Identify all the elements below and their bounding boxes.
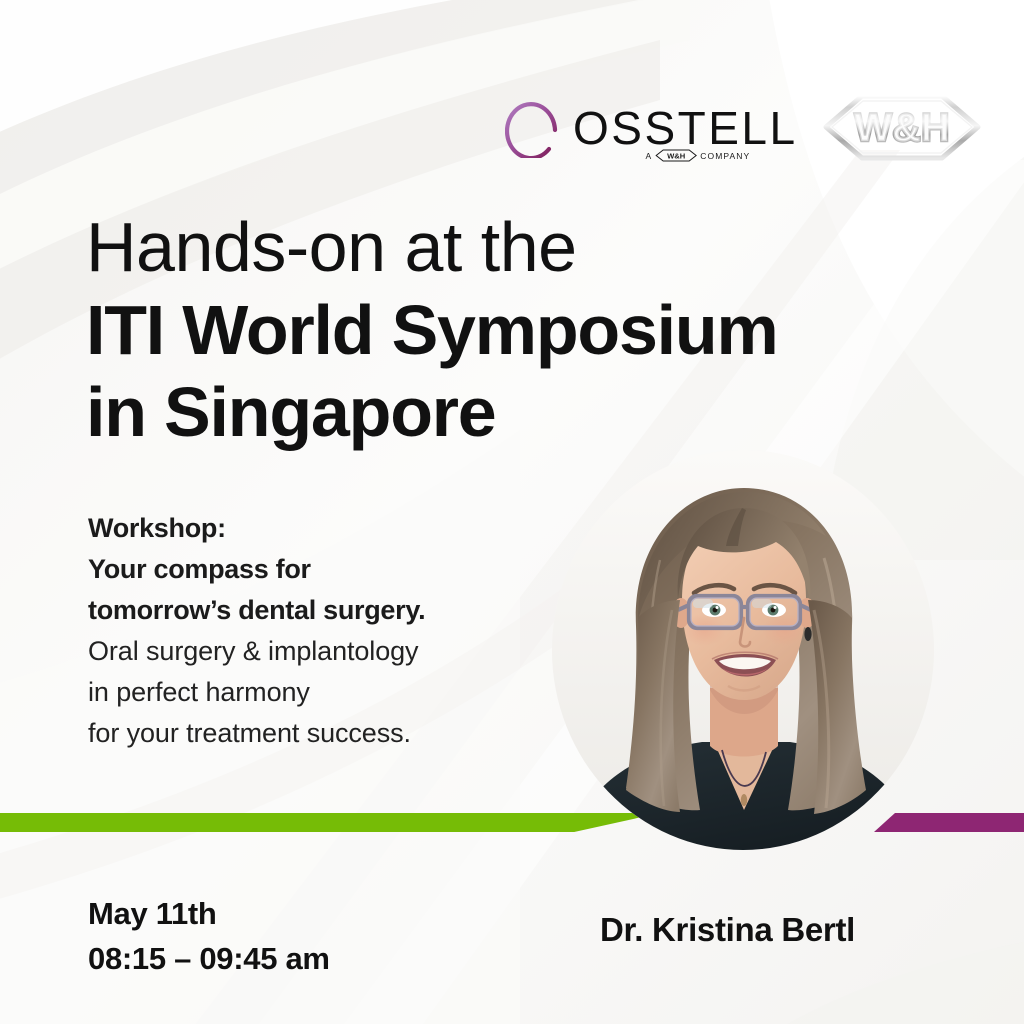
tagline-prefix: A: [645, 151, 652, 161]
workshop-desc-3: for your treatment success.: [88, 713, 518, 754]
tagline-suffix: COMPANY: [700, 151, 750, 161]
event-promo-poster: OSSTELL A W&H COMPANY: [0, 0, 1024, 1024]
event-datetime: May 11th 08:15 – 09:45 am: [88, 892, 330, 982]
osstell-wordmark: OSSTELL: [573, 105, 798, 151]
event-time: 08:15 – 09:45 am: [88, 937, 330, 982]
divider-bar-green: [0, 813, 660, 832]
logo-bar: OSSTELL A W&H COMPANY: [505, 88, 982, 166]
event-date: May 11th: [88, 892, 330, 937]
svg-text:W&H: W&H: [854, 106, 950, 150]
headline-line-3: in Singapore: [86, 371, 886, 454]
divider-bar-magenta: [874, 813, 1024, 832]
workshop-desc-2: in perfect harmony: [88, 672, 518, 713]
wh-hexagon-logo-icon: W&H W&H: [822, 92, 982, 162]
headline-line-2: ITI World Symposium: [86, 289, 886, 372]
workshop-label: Workshop:: [88, 508, 518, 549]
workshop-title-2: tomorrow’s dental surgery.: [88, 590, 518, 631]
headline-line-1: Hands-on at the: [86, 206, 886, 289]
osstell-ring-icon: [505, 96, 567, 158]
osstell-logo: OSSTELL A W&H COMPANY: [505, 96, 798, 158]
osstell-tagline: A W&H COMPANY: [645, 149, 750, 162]
speaker-portrait: [552, 450, 934, 850]
workshop-desc-1: Oral surgery & implantology: [88, 631, 518, 672]
workshop-title-1: Your compass for: [88, 549, 518, 590]
svg-text:W&H: W&H: [667, 152, 685, 161]
headline: Hands-on at the ITI World Symposium in S…: [86, 206, 886, 454]
speaker-portrait-image: [552, 450, 934, 850]
workshop-block: Workshop: Your compass for tomorrow’s de…: [88, 508, 518, 754]
tagline-wh-badge-icon: W&H: [655, 149, 697, 162]
speaker-name: Dr. Kristina Bertl: [600, 911, 855, 949]
